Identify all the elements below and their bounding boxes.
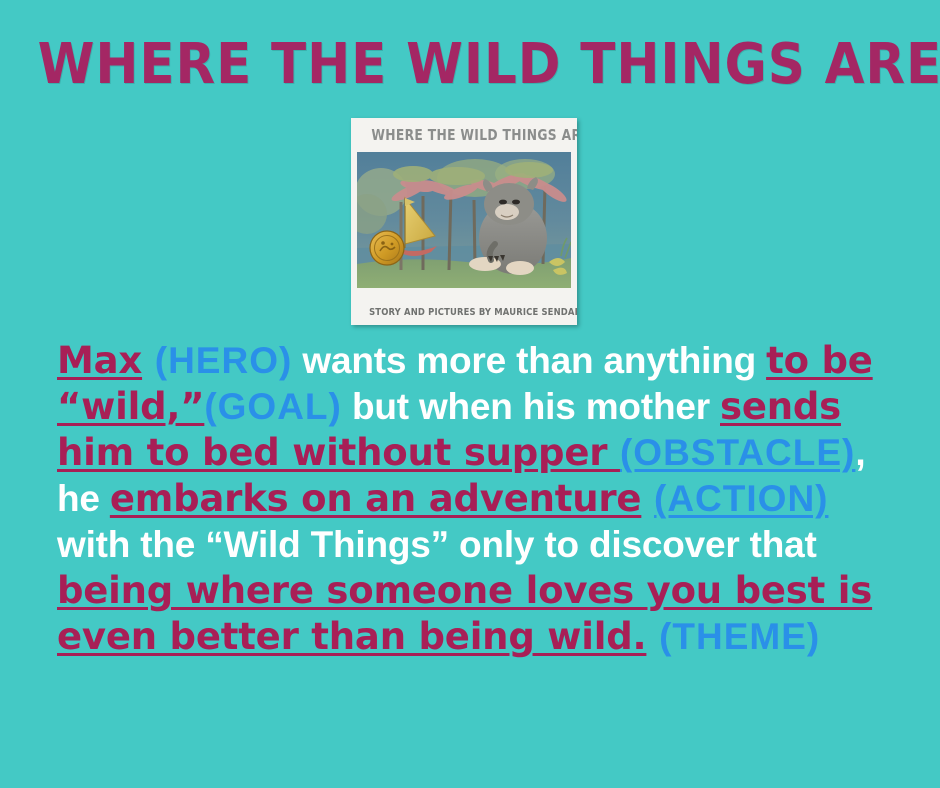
book-cover-image: WHERE THE WILD THINGS ARE xyxy=(351,118,577,325)
book-cover-credit: STORY AND PICTURES BY MAURICE SENDAK. xyxy=(369,307,559,318)
plain-text-1: wants more than anything xyxy=(292,340,766,381)
story-element-action-text: embarks on an adventure xyxy=(110,477,641,520)
slide-canvas: WHERE THE WILD THINGS ARE WHERE THE WILD… xyxy=(0,0,940,788)
wild-things-illustration-svg xyxy=(357,152,571,288)
plain-text-4: with the “Wild Things” only to discover … xyxy=(57,524,817,565)
caldecott-medal-seal xyxy=(370,231,404,265)
story-element-hero-text: Max xyxy=(57,339,142,382)
page-title: WHERE THE WILD THINGS ARE xyxy=(38,34,903,96)
book-cover-illustration xyxy=(357,152,571,288)
story-label-hero: (HERO) xyxy=(155,340,293,381)
story-label-action: (ACTION) xyxy=(654,478,828,519)
plain-text-2: but when his mother xyxy=(342,386,720,427)
story-summary-paragraph: Max (HERO) wants more than anything to b… xyxy=(57,338,887,660)
story-label-theme: (THEME) xyxy=(659,616,820,657)
space-0 xyxy=(142,339,155,382)
story-label-goal: (GOAL) xyxy=(204,386,342,427)
book-cover-title: WHERE THE WILD THINGS ARE xyxy=(371,126,556,144)
space-2 xyxy=(646,615,659,658)
story-label-obstacle: (OBSTACLE) xyxy=(620,432,855,473)
space-1 xyxy=(641,477,654,520)
